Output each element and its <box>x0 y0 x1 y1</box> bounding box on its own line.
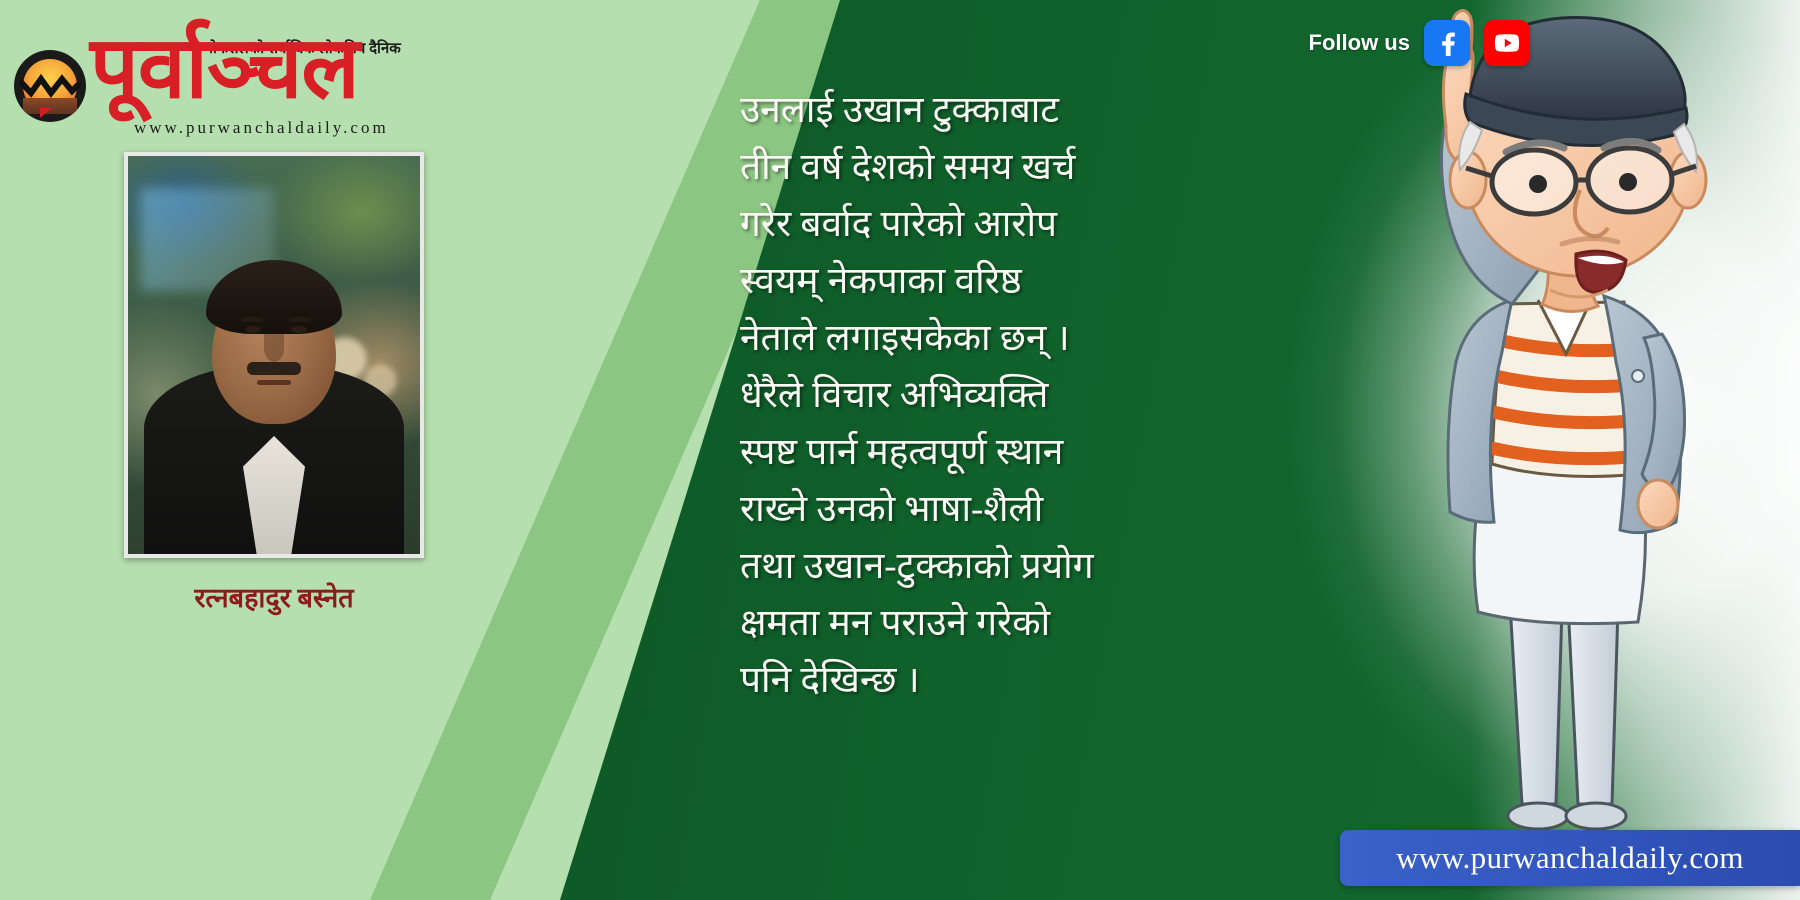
article-line: स्वयम् नेकपाका वरिष्ठ <box>740 253 1190 310</box>
article-line: क्षमता मन पराउने गरेको <box>740 595 1190 652</box>
portrait-caption: रत्नबहादुर बस्नेत <box>124 578 424 615</box>
masthead-url: www.purwanchaldaily.com <box>134 118 389 138</box>
footer-url-banner[interactable]: www.purwanchaldaily.com <box>1340 830 1800 886</box>
masthead-wordmark: पूर्वाञ्चल <box>90 28 359 110</box>
hill-shape <box>23 98 77 114</box>
follow-us-group: Follow us <box>1309 20 1530 66</box>
politician-caricature-illustration <box>1362 4 1782 864</box>
article-text-block: उनलाई उखान टुक्काबाट तीन वर्ष देशको समय … <box>740 82 1190 709</box>
masthead: मोफसलको सर्वाधिक लोकप्रिय दैनिक पूर्वाञ्… <box>14 18 444 128</box>
article-line: गरेर बर्वाद पारेको आरोप <box>740 196 1190 253</box>
author-portrait-photo <box>124 152 424 558</box>
article-line: नेताले लगाइसकेका छन् । <box>740 310 1190 367</box>
zigzag-icon <box>19 74 81 98</box>
article-line: राख्ने उनको भाषा-शैली <box>740 481 1190 538</box>
youtube-icon[interactable] <box>1484 20 1530 66</box>
poster-canvas: मोफसलको सर्वाधिक लोकप्रिय दैनिक पूर्वाञ्… <box>0 0 1800 900</box>
article-line: तथा उखान-टुक्काको प्रयोग <box>740 538 1190 595</box>
footer-url-text: www.purwanchaldaily.com <box>1396 840 1744 876</box>
facebook-icon[interactable] <box>1424 20 1470 66</box>
sun-mountain-badge-icon <box>14 50 86 122</box>
article-line: तीन वर्ष देशको समय खर्च <box>740 139 1190 196</box>
article-line: स्पष्ट पार्न महत्वपूर्ण स्थान <box>740 424 1190 481</box>
follow-us-label: Follow us <box>1309 30 1410 56</box>
article-line: पनि देखिन्छ । <box>740 652 1190 709</box>
article-line: उनलाई उखान टुक्काबाट <box>740 82 1190 139</box>
article-line: धेरैले विचार अभिव्यक्ति <box>740 367 1190 424</box>
